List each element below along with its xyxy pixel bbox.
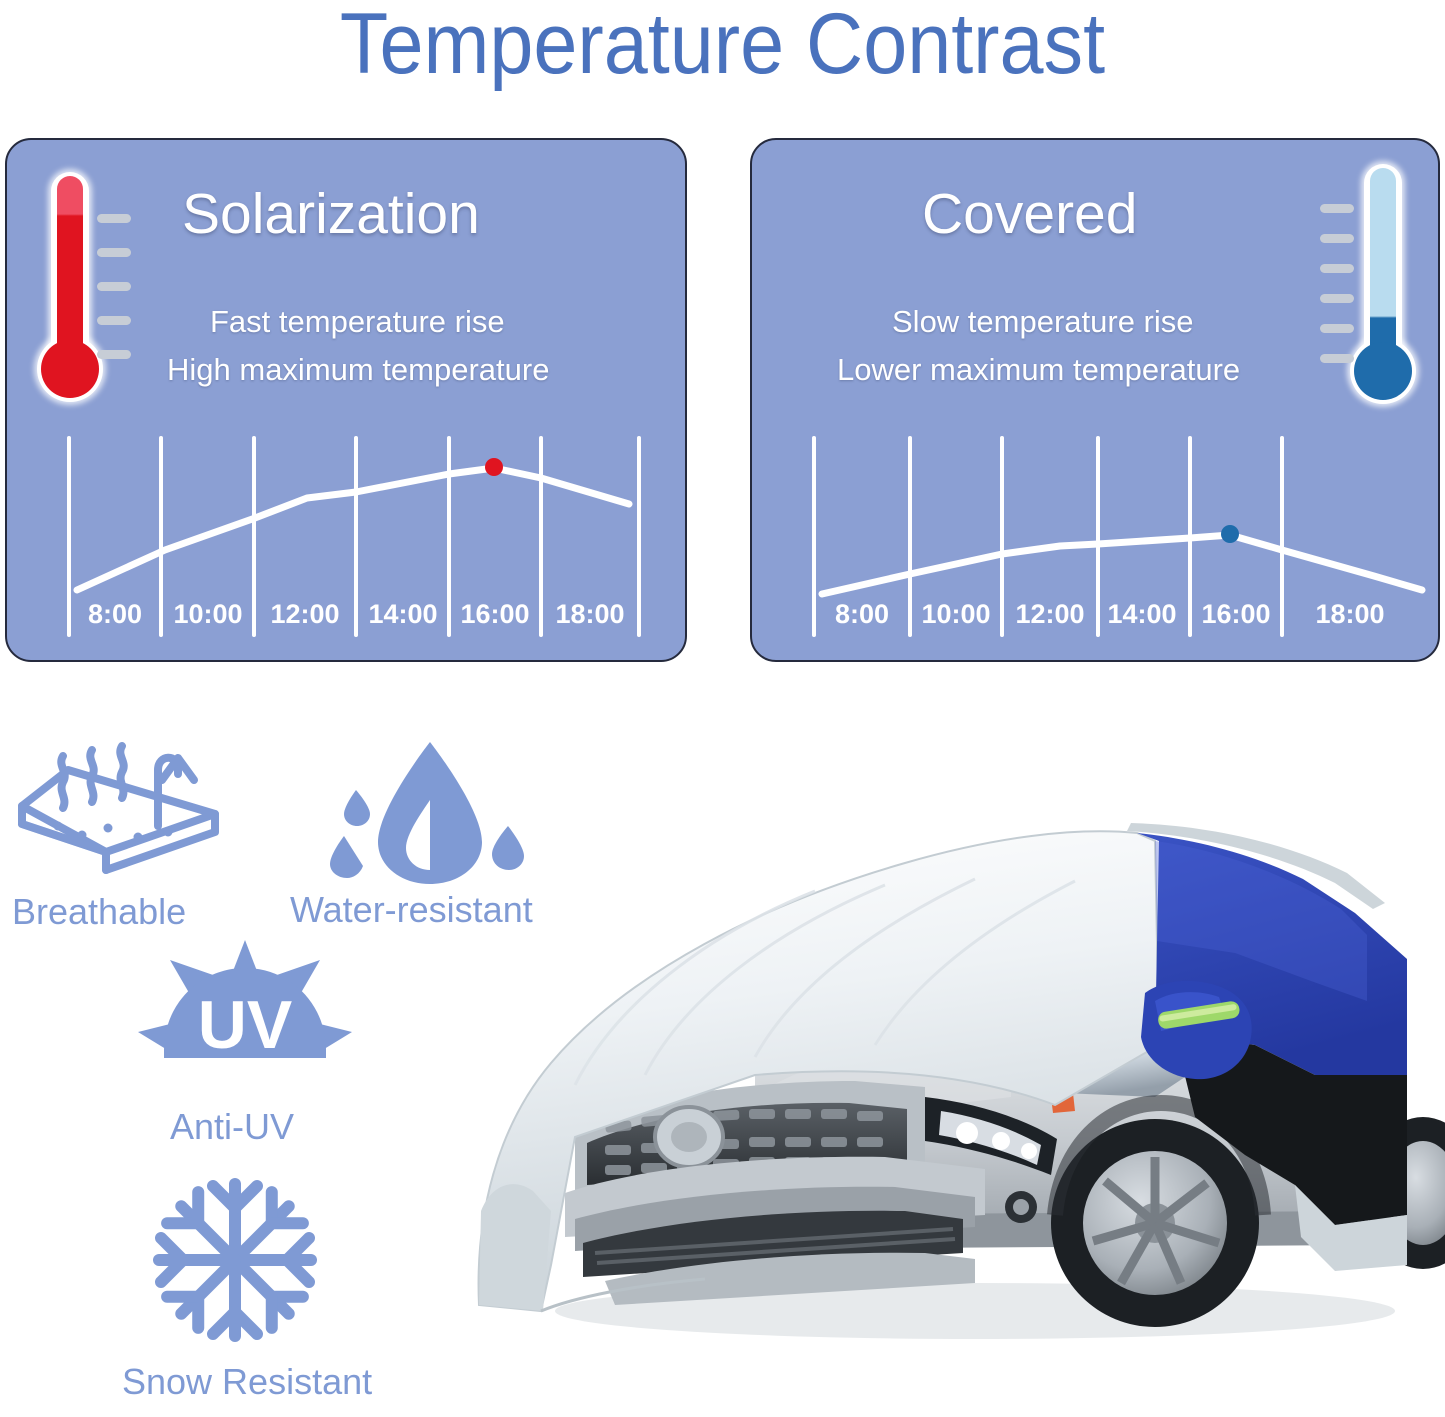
cold-thermometer-icon (1300, 160, 1425, 428)
svg-text:14:00: 14:00 (368, 599, 437, 629)
uv-icon-text: UV (198, 987, 292, 1063)
panel-sub-slow-rise: Slow temperature rise (892, 298, 1194, 346)
chart-solarization: 8:00 10:00 12:00 14:00 16:00 18:00 (25, 430, 673, 645)
panel-heading-covered: Covered (922, 182, 1137, 246)
chart-peak-marker (1221, 525, 1239, 543)
svg-text:10:00: 10:00 (173, 599, 242, 629)
chart-gridlines (69, 438, 639, 635)
panel-sub-lower-max: Lower maximum temperature (837, 346, 1240, 394)
panel-covered: Covered Slow temperature rise Lower maxi… (750, 138, 1440, 662)
svg-text:18:00: 18:00 (1315, 599, 1384, 629)
chart-covered: 8:00 10:00 12:00 14:00 16:00 18:00 (770, 430, 1430, 645)
svg-text:8:00: 8:00 (88, 599, 142, 629)
svg-text:10:00: 10:00 (921, 599, 990, 629)
svg-text:16:00: 16:00 (1201, 599, 1270, 629)
svg-text:8:00: 8:00 (835, 599, 889, 629)
chart-x-axis-labels: 8:00 10:00 12:00 14:00 16:00 18:00 (835, 599, 1385, 629)
suv-with-car-cover-photo (455, 745, 1445, 1365)
svg-text:14:00: 14:00 (1107, 599, 1176, 629)
temperature-comparison: Solarization Fast temperature rise High … (0, 138, 1445, 668)
svg-text:18:00: 18:00 (555, 599, 624, 629)
panel-sub-high-max: High maximum temperature (167, 346, 549, 394)
feature-label-breathable: Breathable (12, 890, 186, 934)
hot-thermometer-icon (35, 168, 160, 428)
svg-text:16:00: 16:00 (460, 599, 529, 629)
panel-heading-solarization: Solarization (182, 182, 480, 246)
svg-text:12:00: 12:00 (1015, 599, 1084, 629)
svg-text:12:00: 12:00 (270, 599, 339, 629)
feature-label-snow-resistant: Snow Resistant (122, 1360, 372, 1404)
panel-solarization: Solarization Fast temperature rise High … (5, 138, 687, 662)
chart-peak-marker (485, 458, 503, 476)
feature-anti-uv: UV Anti-UV (130, 940, 380, 1150)
panel-sub-fast-rise: Fast temperature rise (210, 298, 505, 346)
feature-snow-resistant: Snow Resistant (120, 1170, 380, 1390)
page-title: Temperature Contrast (58, 0, 1387, 92)
snowflake-icon (120, 1170, 350, 1355)
feature-label-anti-uv: Anti-UV (170, 1105, 294, 1149)
sun-uv-icon: UV (130, 940, 360, 1105)
breathable-fabric-icon (10, 740, 240, 895)
feature-breathable: Breathable (10, 740, 240, 930)
